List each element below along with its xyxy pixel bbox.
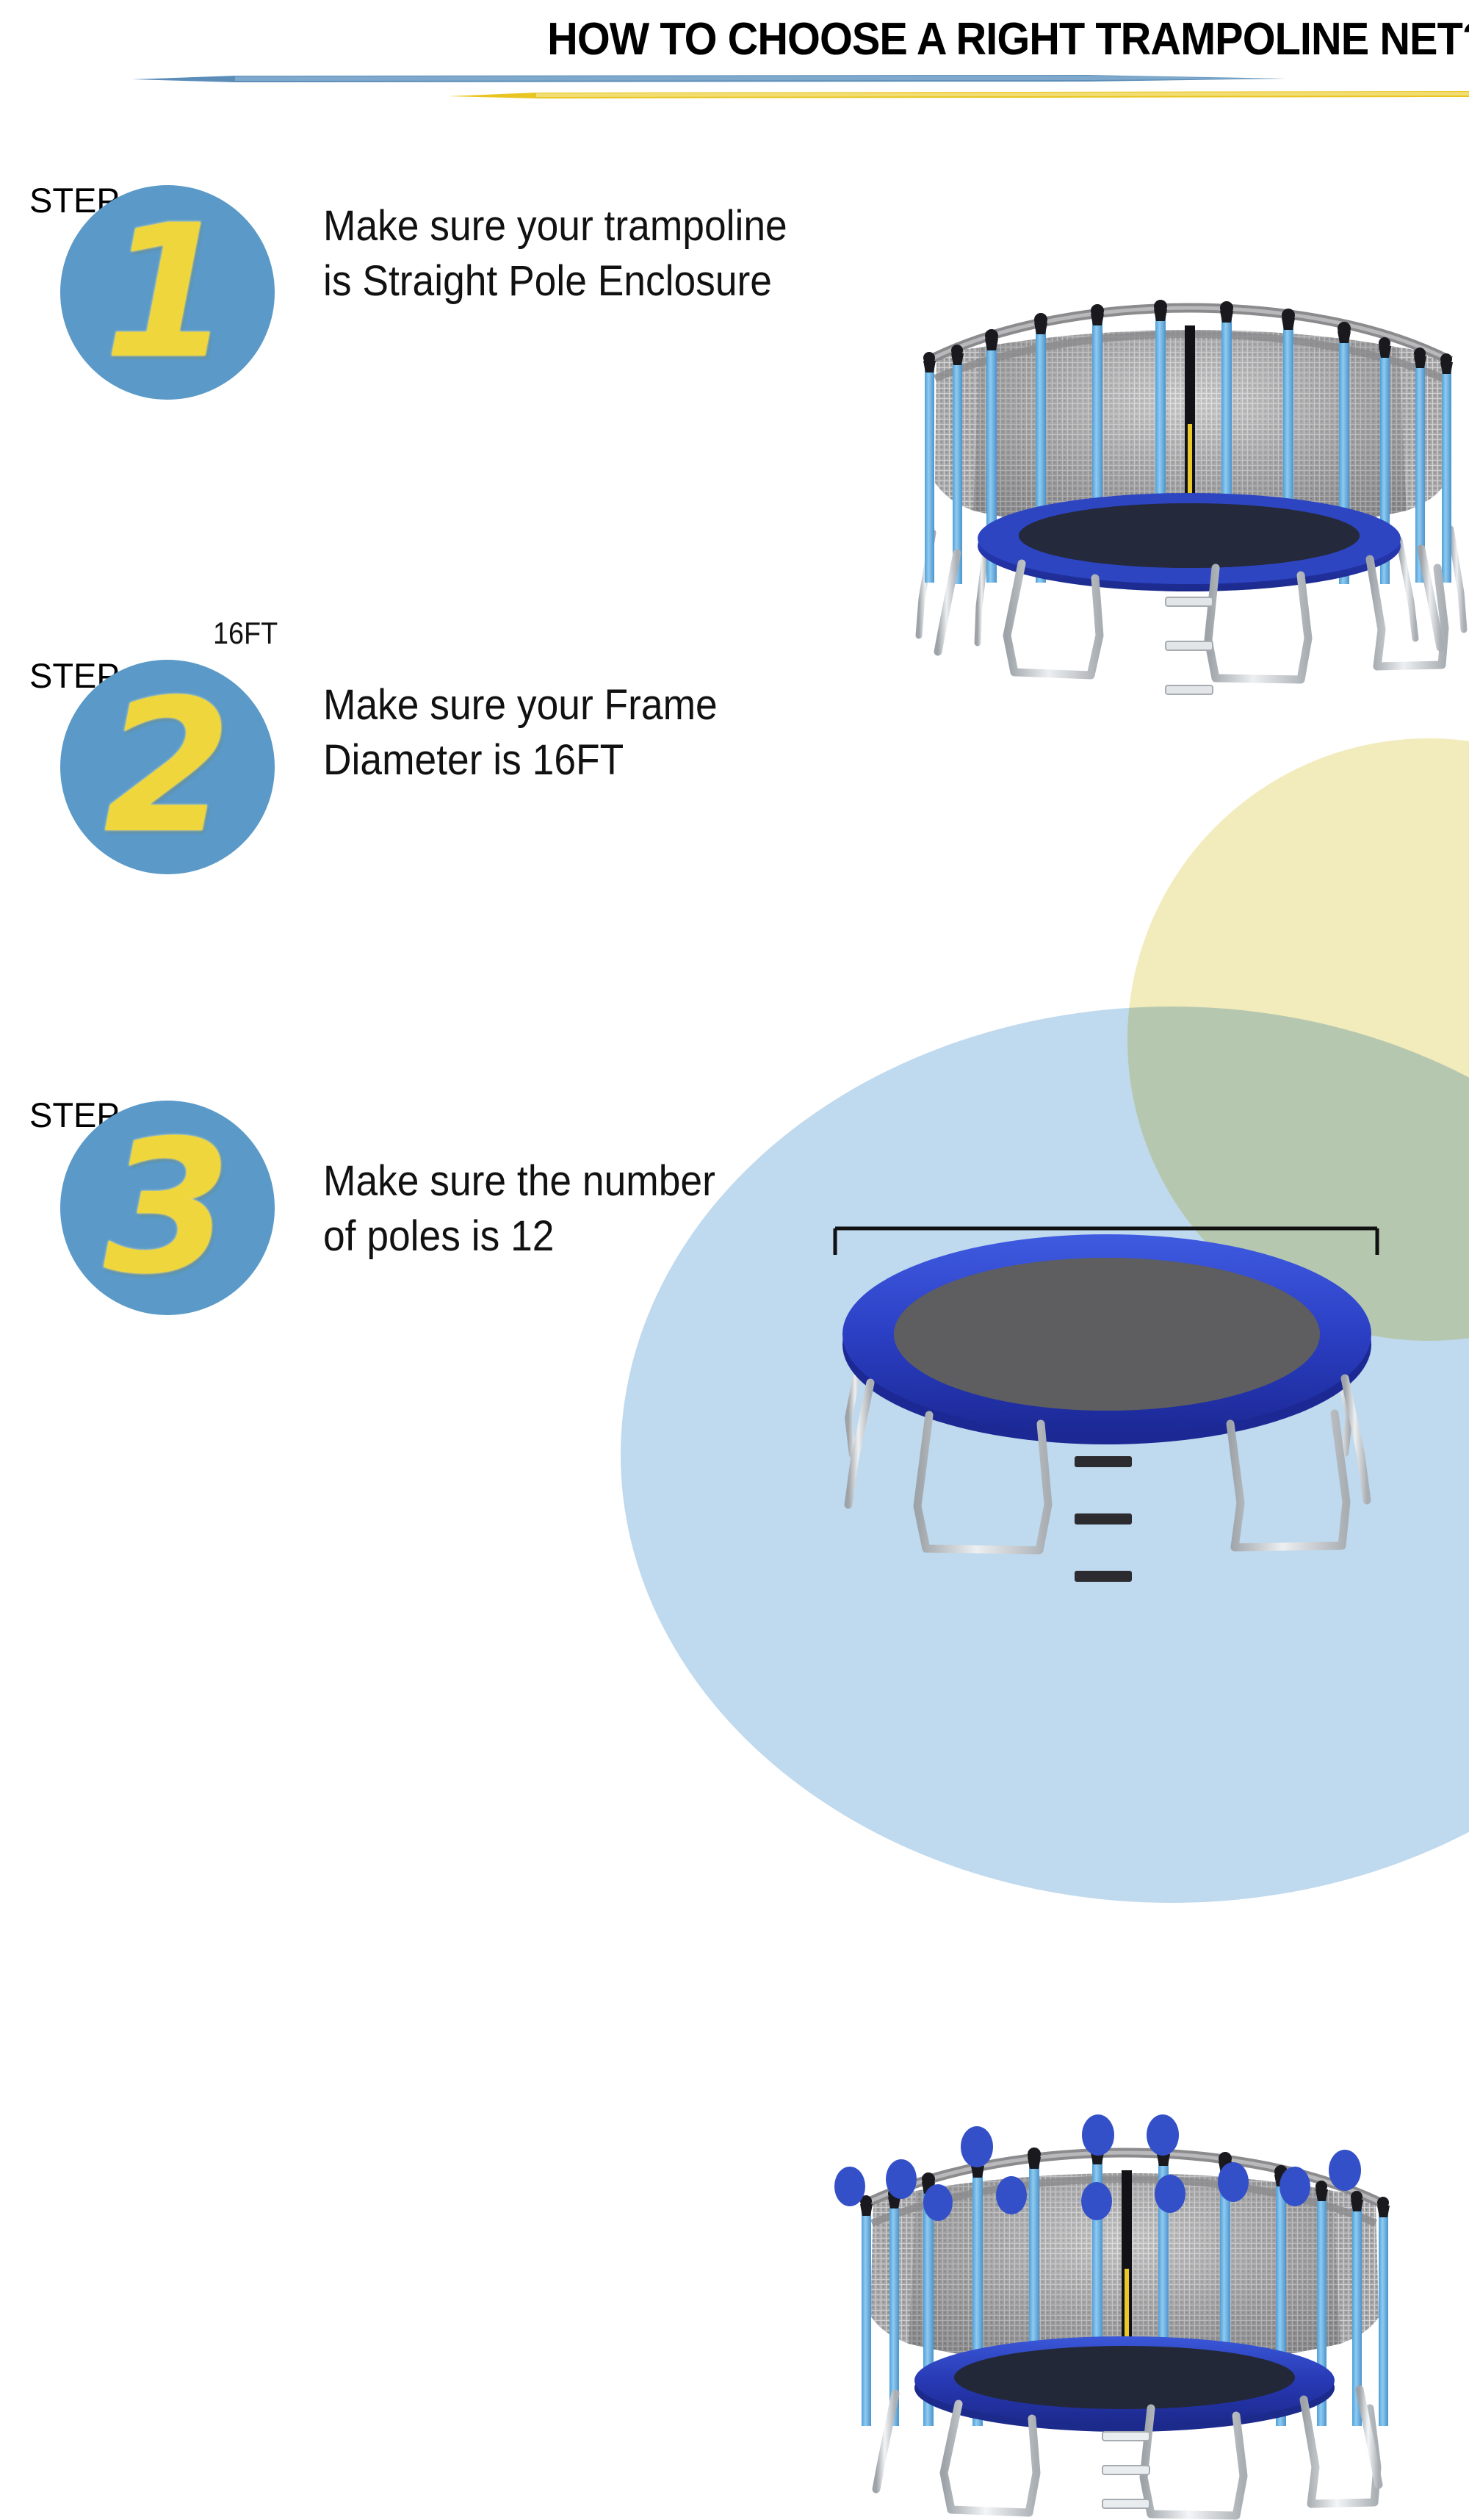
step-1-number: 1 bbox=[60, 185, 275, 400]
page-title: HOW TO CHOOSE A RIGHT TRAMPOLINE NET? bbox=[547, 13, 1429, 65]
step-3-number: 3 bbox=[60, 1101, 275, 1315]
infographic-canvas: HOW TO CHOOSE A RIGHT TRAMPOLINE NET? ST… bbox=[0, 0, 1469, 1469]
step-2-number: 2 bbox=[60, 660, 275, 874]
step-2-text: Make sure your Frame Diameter is 16FT bbox=[323, 677, 796, 788]
step-row-3: STEP 3 Make sure the number of poles is … bbox=[0, 1043, 1469, 1469]
step-3-text: Make sure the number of poles is 12 bbox=[323, 1153, 796, 1264]
step-1-text: Make sure your trampoline is Straight Po… bbox=[323, 198, 809, 309]
step-row-1: STEP 1 Make sure your trampoline is Stra… bbox=[0, 147, 1469, 566]
trampoline-pole-count-illustration bbox=[819, 2094, 1414, 2520]
header: HOW TO CHOOSE A RIGHT TRAMPOLINE NET? bbox=[0, 0, 1469, 110]
step-row-2: STEP 2 Make sure your Frame Diameter is … bbox=[0, 610, 1469, 1036]
divider-line-yellow bbox=[448, 90, 1469, 100]
divider-line-blue bbox=[132, 73, 1285, 84]
dimension-label-16ft: 16FT bbox=[213, 616, 278, 651]
